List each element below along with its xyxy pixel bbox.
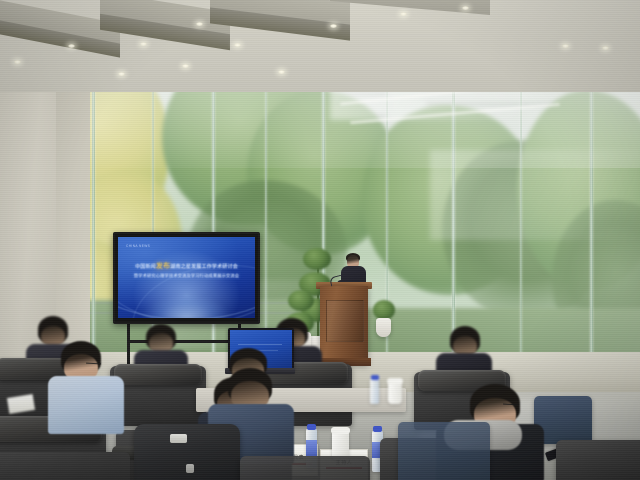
backpack-logo-patch bbox=[170, 434, 187, 443]
downlight bbox=[234, 43, 241, 47]
cup-lid bbox=[331, 427, 350, 434]
topiary-ball bbox=[288, 290, 314, 311]
downlight bbox=[400, 12, 407, 16]
downlight bbox=[14, 60, 21, 64]
downlight bbox=[196, 22, 203, 26]
backpack-buckle bbox=[186, 464, 194, 473]
downlight bbox=[140, 42, 147, 46]
bottle-cap bbox=[371, 375, 379, 380]
slide-subtitle-text: 暨学术研究心理学技术交流及学习行动成果展示交流会 bbox=[134, 273, 239, 278]
podium-front-panel bbox=[326, 300, 364, 342]
bottle-cap bbox=[373, 426, 382, 432]
bottle-label bbox=[306, 440, 317, 456]
tv-stand-crossbar bbox=[127, 340, 241, 343]
conference-chair-blue[interactable] bbox=[398, 422, 490, 480]
conference-room-photo: CHINA NEWS 中国新闻发布湖南之星发展工作学术研讨会 暨学术研究心理学技… bbox=[0, 0, 640, 480]
attendee-body bbox=[48, 376, 124, 434]
downlight bbox=[68, 44, 75, 48]
slide-title-line-2: 暨学术研究心理学技术交流及学习行动成果展示交流会 bbox=[118, 272, 255, 279]
slide-title-suffix: 湖南之星发展工作学术研讨会 bbox=[170, 264, 238, 270]
conference-chair[interactable] bbox=[240, 456, 370, 480]
downlight bbox=[278, 70, 285, 74]
topiary-ball bbox=[373, 300, 395, 320]
downlight bbox=[118, 72, 125, 76]
plant-pot bbox=[376, 318, 391, 337]
conference-chair[interactable] bbox=[556, 440, 640, 480]
slide-glow bbox=[143, 295, 231, 318]
downlight bbox=[330, 24, 337, 28]
downlight bbox=[562, 44, 569, 48]
downlight bbox=[602, 46, 609, 50]
presentation-display[interactable]: CHINA NEWS 中国新闻发布湖南之星发展工作学术研讨会 暨学术研究心理学技… bbox=[113, 232, 260, 324]
conference-chair[interactable] bbox=[0, 452, 130, 480]
downlight bbox=[462, 6, 469, 10]
bottle-cap bbox=[307, 424, 316, 430]
topiary-ball bbox=[303, 248, 331, 270]
cup-lid bbox=[387, 378, 403, 384]
slide-title-line-1: 中国新闻发布湖南之星发展工作学术研讨会 bbox=[118, 263, 255, 271]
attendee-head bbox=[41, 326, 65, 346]
downlight bbox=[182, 64, 189, 68]
slide-title-highlight: 发布 bbox=[156, 263, 170, 270]
chair-headrest bbox=[114, 364, 202, 385]
slide-logo: CHINA NEWS bbox=[126, 244, 150, 248]
slide-title-prefix: 中国新闻 bbox=[135, 264, 156, 270]
display-screen: CHINA NEWS 中国新闻发布湖南之星发展工作学术研讨会 暨学术研究心理学技… bbox=[118, 237, 255, 318]
laptop-screen-text-line bbox=[238, 344, 282, 345]
